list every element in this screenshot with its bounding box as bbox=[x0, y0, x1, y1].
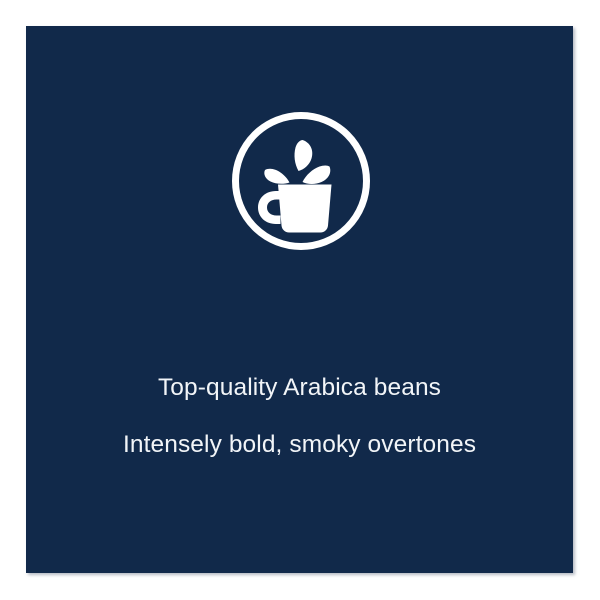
tagline-line-2: Intensely bold, smoky overtones bbox=[26, 433, 573, 458]
mug-body bbox=[278, 185, 332, 233]
steam-leaves-group bbox=[264, 140, 330, 184]
steam-leaf-left bbox=[264, 169, 289, 184]
tagline-block: Top-quality Arabica beans Intensely bold… bbox=[26, 376, 573, 457]
steam-leaf-right bbox=[303, 165, 331, 184]
product-feature-card: Top-quality Arabica beans Intensely bold… bbox=[26, 26, 573, 573]
coffee-cup-circle-icon-svg bbox=[232, 112, 370, 250]
mug-handle bbox=[258, 191, 281, 224]
steam-leaf-center bbox=[295, 140, 313, 171]
tagline-line-1: Top-quality Arabica beans bbox=[26, 376, 573, 401]
coffee-cup-circle-icon bbox=[232, 112, 370, 250]
